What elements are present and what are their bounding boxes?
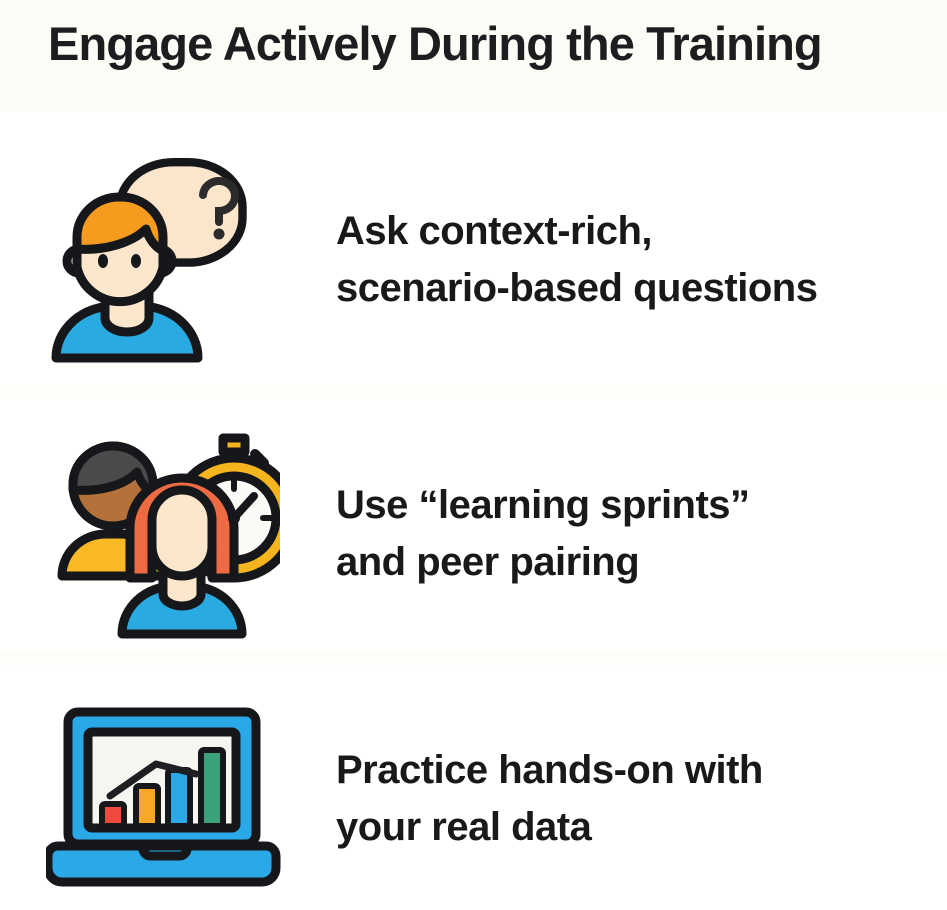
- list-item-text-cell: Use “learning sprints” and peer pairing: [330, 477, 947, 591]
- chart-bar-4: [201, 750, 223, 826]
- chart-bar-3: [168, 770, 190, 826]
- list-item-text-cell: Practice hands-on with your real data: [330, 742, 947, 856]
- list-item-line-2: your real data: [336, 799, 881, 856]
- list-item: Use “learning sprints” and peer pairing: [0, 424, 947, 644]
- list-item-line-2: and peer pairing: [336, 534, 881, 591]
- infographic-poster: Engage Actively During the Training: [0, 0, 947, 910]
- page-title: Engage Actively During the Training: [48, 19, 908, 70]
- list-item-text: Practice hands-on with your real data: [336, 742, 881, 856]
- person-with-question-speech-bubble-icon: [0, 150, 330, 370]
- chart-bar-1: [102, 804, 124, 826]
- laptop-with-bar-chart-icon: [0, 696, 330, 901]
- list-item-text: Ask context-rich, scenario-based questio…: [336, 203, 881, 317]
- list-item: Ask context-rich, scenario-based questio…: [0, 150, 947, 370]
- list-item: Practice hands-on with your real data: [0, 696, 947, 901]
- two-people-with-stopwatch-icon: [0, 424, 330, 644]
- list-item-line-1: Ask context-rich,: [336, 203, 881, 260]
- list-item-text-cell: Ask context-rich, scenario-based questio…: [330, 203, 947, 317]
- row-divider-1: [0, 384, 947, 394]
- list-item-line-2: scenario-based questions: [336, 260, 881, 317]
- row-divider-2: [0, 652, 947, 666]
- chart-bar-2: [136, 786, 158, 826]
- list-item-text: Use “learning sprints” and peer pairing: [336, 477, 881, 591]
- list-item-line-1: Practice hands-on with: [336, 742, 881, 799]
- list-item-line-1: Use “learning sprints”: [336, 477, 881, 534]
